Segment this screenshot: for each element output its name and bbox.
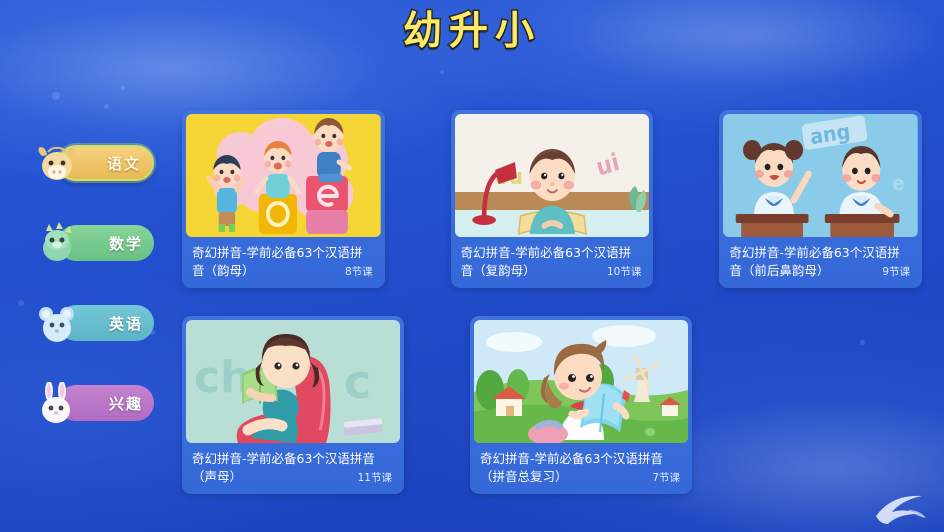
rabbit-mascot-icon bbox=[34, 382, 80, 426]
sidebar-item-label: 兴趣 bbox=[109, 393, 143, 414]
bubble-dot bbox=[121, 86, 125, 90]
bubble-dot bbox=[18, 300, 24, 306]
course-lesson-count: 11节课 bbox=[358, 470, 392, 485]
boy-at-desk-with-lamp-thumbnail: ou ui bbox=[455, 114, 650, 237]
bubble-dot bbox=[440, 70, 444, 74]
course-grid: 奇幻拼音-学前必备63个汉语拼音（韵母） 8节课 ou ui bbox=[182, 110, 922, 494]
sidebar-item-label: 英语 bbox=[109, 313, 143, 334]
course-row: 奇幻拼音-学前必备63个汉语拼音（韵母） 8节课 ou ui bbox=[182, 110, 922, 288]
cow-mascot-icon bbox=[34, 142, 80, 186]
bubble-dot bbox=[104, 104, 109, 109]
course-meta: 奇幻拼音-学前必备63个汉语拼音（拼音总复习） 7节课 bbox=[474, 443, 688, 494]
course-lesson-count: 9节课 bbox=[882, 264, 910, 279]
course-meta: 奇幻拼音-学前必备63个汉语拼音（复韵母） 10节课 bbox=[455, 237, 650, 288]
course-meta: 奇幻拼音-学前必备63个汉语拼音（前后鼻韵母） 9节课 bbox=[723, 237, 918, 288]
course-lesson-count: 8节课 bbox=[345, 264, 373, 279]
sidebar-item-label: 数学 bbox=[109, 233, 143, 254]
course-card[interactable]: ch c bbox=[182, 316, 404, 494]
brand-swoosh-logo bbox=[868, 486, 938, 530]
svg-text:e: e bbox=[893, 171, 905, 195]
course-card[interactable]: 奇幻拼音-学前必备63个汉语拼音（拼音总复习） 7节课 bbox=[470, 316, 692, 494]
course-lesson-count: 10节课 bbox=[607, 264, 641, 279]
sidebar-item-english[interactable]: 英语 bbox=[34, 302, 164, 346]
course-card[interactable]: ang e bbox=[719, 110, 922, 288]
course-row: ch c bbox=[182, 316, 922, 494]
dragon-mascot-icon bbox=[34, 222, 80, 266]
page-title: 幼升小 bbox=[0, 8, 944, 57]
girl-reading-in-chair-thumbnail: ch c bbox=[186, 320, 400, 443]
girl-reading-on-hill-thumbnail bbox=[474, 320, 688, 443]
course-lesson-count: 7节课 bbox=[652, 470, 680, 485]
sidebar-item-label: 语文 bbox=[107, 153, 141, 174]
course-meta: 奇幻拼音-学前必备63个汉语拼音（韵母） 8节课 bbox=[186, 237, 381, 288]
course-meta: 奇幻拼音-学前必备63个汉语拼音（声母） 11节课 bbox=[186, 443, 400, 494]
kids-on-letter-blocks-thumbnail bbox=[186, 114, 381, 237]
course-card[interactable]: 奇幻拼音-学前必备63个汉语拼音（韵母） 8节课 bbox=[182, 110, 385, 288]
bubble-dot bbox=[52, 92, 60, 100]
app-root: 幼升小 语文 数学 bbox=[0, 0, 944, 532]
course-card[interactable]: ou ui bbox=[451, 110, 654, 288]
mouse-mascot-icon bbox=[34, 302, 80, 346]
sidebar-item-math[interactable]: 数学 bbox=[34, 222, 164, 266]
sidebar-item-chinese[interactable]: 语文 bbox=[34, 142, 164, 186]
two-students-at-desks-thumbnail: ang e bbox=[723, 114, 918, 237]
sidebar-item-interest[interactable]: 兴趣 bbox=[34, 382, 164, 426]
svg-text:c: c bbox=[344, 355, 371, 409]
sidebar: 语文 数学 bbox=[34, 142, 164, 462]
